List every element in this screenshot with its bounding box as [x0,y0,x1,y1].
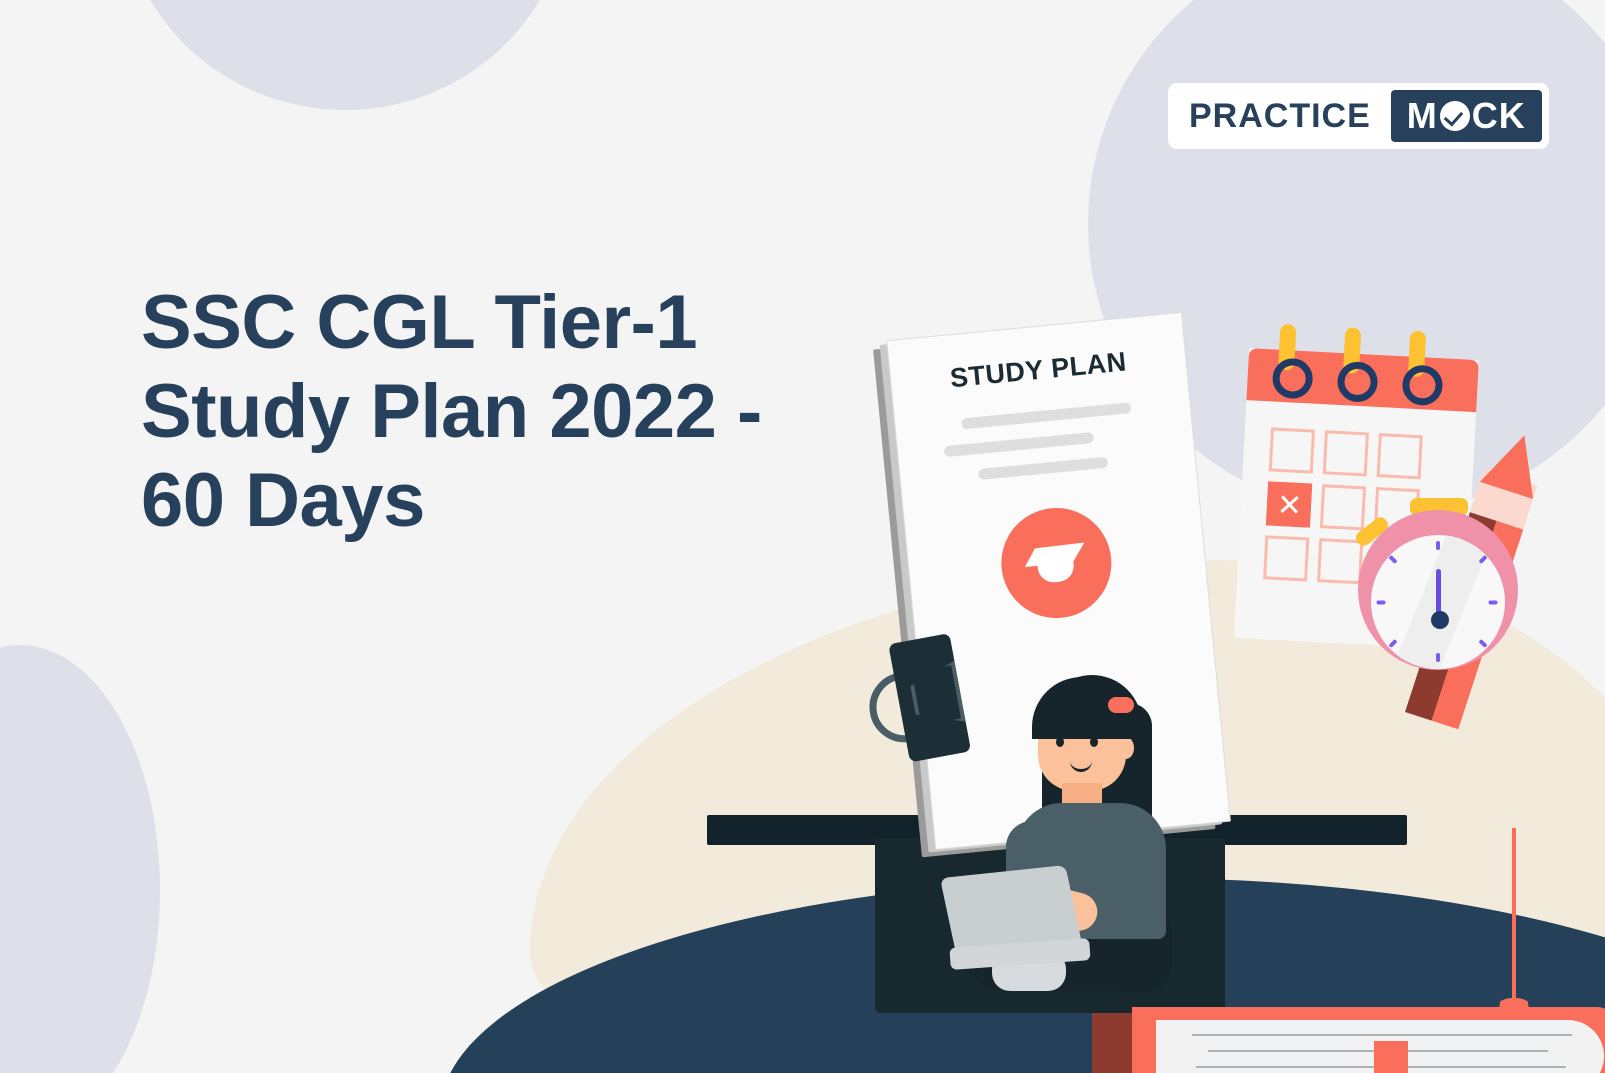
calendar-cell [1269,427,1315,473]
clipboard-title: STUDY PLAN [890,341,1187,400]
student-with-laptop [950,675,1230,995]
logo-mock-prefix: M [1407,98,1438,134]
stopwatch-bezel [1358,510,1518,670]
stopwatch-icon [1358,498,1530,670]
student-eyebrow [1050,727,1070,730]
check-circle-icon [1440,101,1470,131]
calendar-cell [1377,433,1423,479]
calendar-cell [1263,535,1309,581]
student-ear [1118,737,1134,759]
graduation-cap-glyph [1022,541,1091,581]
stopwatch-tick [1478,639,1487,648]
clipboard-placeholder-line [944,432,1094,457]
student-eye [1056,737,1064,747]
graduation-cap-icon [996,503,1116,623]
stopwatch-tick [1489,601,1498,605]
background-circle-bottom-left [0,645,160,1073]
stopwatch-tick [1436,541,1440,550]
clipboard-placeholder-line [961,402,1131,429]
stopwatch-tick [1388,639,1397,648]
calendar-cell-marked [1266,481,1312,527]
banner-canvas: SSC CGL Tier-1 Study Plan 2022 - 60 Days… [0,0,1605,1073]
student-eyebrow [1084,727,1104,730]
brand-logo[interactable]: PRACTICE M CK [1168,83,1549,149]
calendar-cell [1323,430,1369,476]
stopwatch-tick [1388,555,1397,564]
book-top [1092,1007,1605,1073]
study-plan-illustration: STUDY PLAN [850,280,1605,880]
graduation-cap-string [1512,828,1516,1008]
logo-mock-suffix: CK [1472,98,1526,134]
clipboard-placeholder-line [978,457,1108,480]
logo-word-practice: PRACTICE [1175,90,1391,142]
student-eye [1090,737,1098,747]
bookmark-icon [1374,1041,1408,1073]
stopwatch-dial [1371,535,1505,669]
stopwatch-tick [1377,601,1386,605]
logo-word-mock: M CK [1391,90,1542,142]
calendar-cell [1317,538,1363,584]
stopwatch-pivot [1431,611,1449,629]
page-title: SSC CGL Tier-1 Study Plan 2022 - 60 Days [141,279,901,546]
book-text-line [1192,1034,1572,1036]
background-circle-top-left [120,0,570,110]
hair-tie-icon [1108,697,1134,713]
stopwatch-shine [1387,535,1495,669]
stopwatch-tick [1436,653,1440,662]
